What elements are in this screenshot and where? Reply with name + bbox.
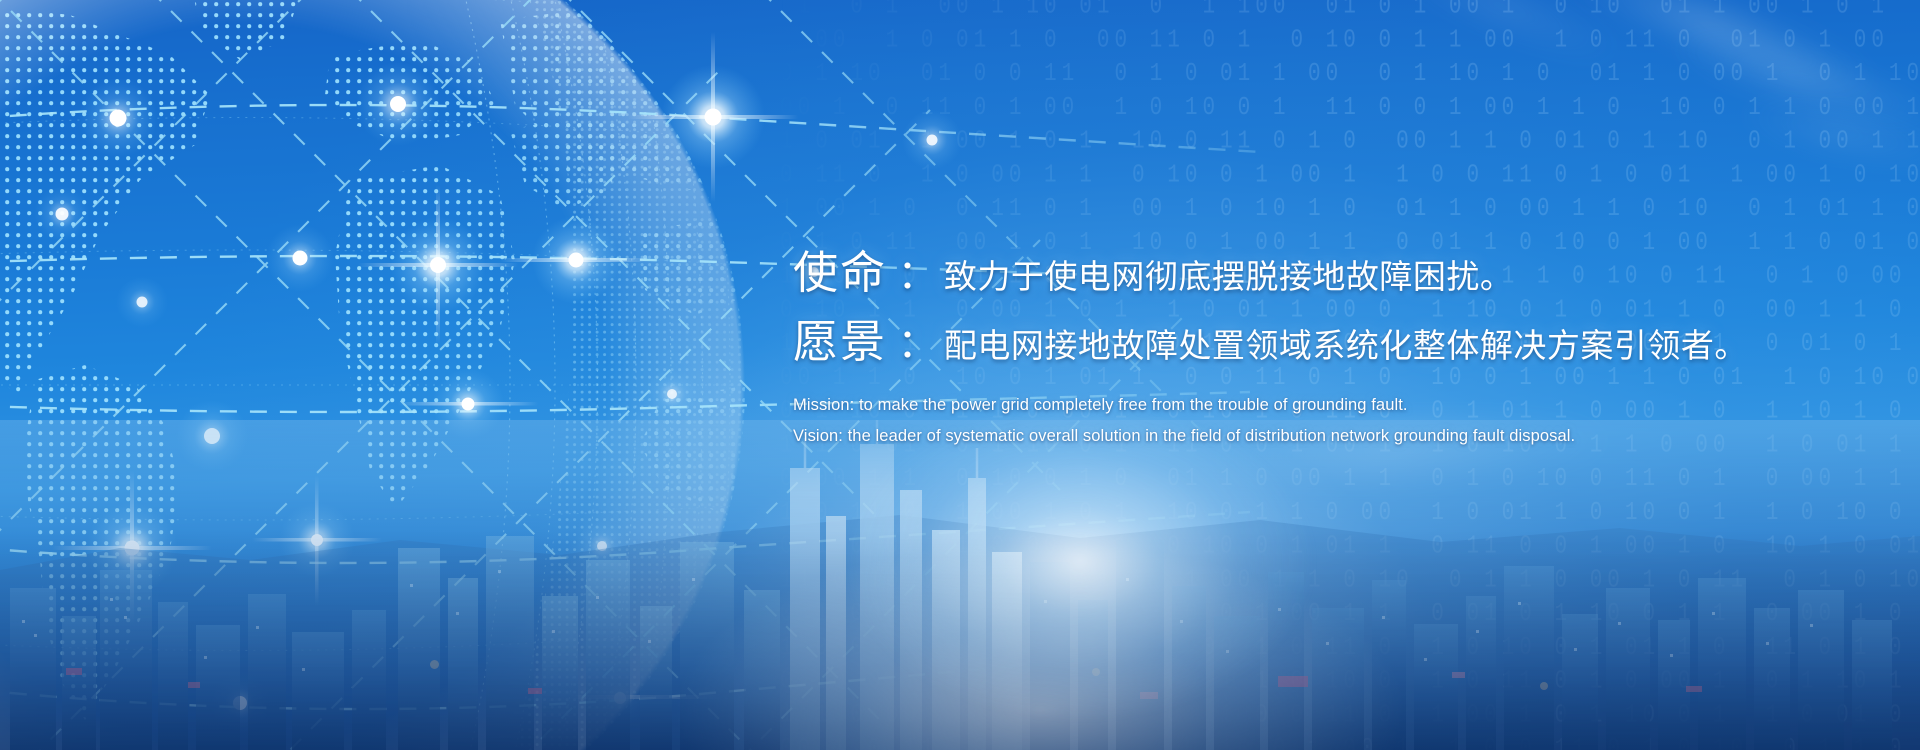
mission-body: 致力于使电网彻底摆脱接地故障困扰。 — [944, 258, 1514, 295]
vision-label: 愿景 — [793, 316, 887, 367]
cloud-streak-icon — [1566, 0, 1885, 100]
hero-banner: 01 0 1 00 1 10 01 0 1 100 01 0 1 00 1 0 … — [0, 0, 1920, 750]
city-haze-overlay — [0, 420, 1920, 750]
vision-statement-line: 愿景 ： 配电网接地故障处置领域系统化整体解决方案引领者。 — [793, 319, 1893, 364]
mission-statement-line: 使命 ： 致力于使电网彻底摆脱接地故障困扰。 — [793, 250, 1893, 295]
cloud-streak-icon — [1731, 100, 1920, 168]
mission-subtitle-en: Mission: to make the power grid complete… — [793, 394, 1893, 416]
vision-subtitle-en: Vision: the leader of systematic overall… — [793, 425, 1893, 447]
mission-label: 使命 — [793, 247, 887, 298]
bottom-vignette — [0, 530, 1920, 750]
dotted-globe-graphic — [0, 0, 800, 750]
cloud-streak-icon — [1663, 29, 1920, 133]
vision-colon: ： — [891, 322, 939, 366]
mission-vision-copy: 使命 ： 致力于使电网彻底摆脱接地故障困扰。 愿景 ： 配电网接地故障处置领域系… — [793, 250, 1893, 448]
mission-colon: ： — [891, 253, 939, 297]
vision-body: 配电网接地故障处置领域系统化整体解决方案引领者。 — [944, 327, 1748, 364]
city-skyline-graphic — [0, 420, 1920, 750]
cloud-streak-icon — [1386, 0, 1635, 68]
